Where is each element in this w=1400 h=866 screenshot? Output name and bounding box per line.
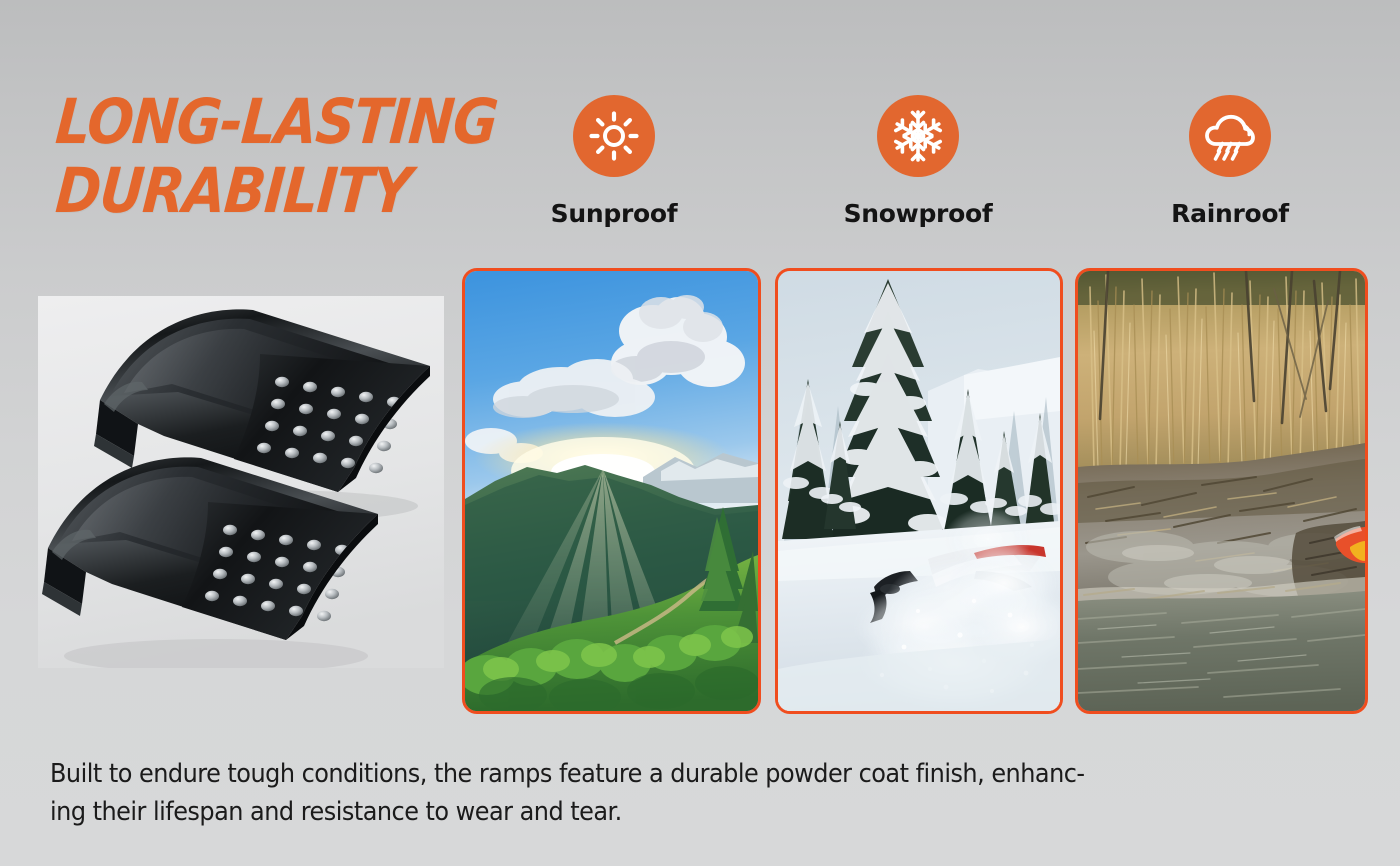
card-sun-photo xyxy=(462,268,761,714)
feature-rainroof: Rainroof xyxy=(1140,95,1320,228)
rainroof-badge xyxy=(1189,95,1271,177)
card-rain-photo xyxy=(1075,268,1368,714)
page-title: LONG-LASTING DURABILITY xyxy=(56,92,526,220)
headline-line-1: LONG-LASTING xyxy=(54,92,472,152)
sunproof-badge xyxy=(573,95,655,177)
feature-sunproof: Sunproof xyxy=(524,95,704,228)
feature-label-snowproof: Snowproof xyxy=(828,199,1008,228)
card-snow-photo xyxy=(775,268,1063,714)
feature-snowproof: Snowproof xyxy=(828,95,1008,228)
rain-cloud-icon xyxy=(1203,110,1257,162)
caption-line-2: ing their lifespan and resistance to wea… xyxy=(50,794,1065,832)
description-text: Built to endure tough conditions, the ra… xyxy=(50,756,1065,831)
snowproof-badge xyxy=(877,95,959,177)
caption-line-1: Built to endure tough conditions, the ra… xyxy=(50,756,1065,794)
feature-label-rainroof: Rainroof xyxy=(1140,199,1320,228)
headline-line-2: DURABILITY xyxy=(54,161,472,221)
feature-label-sunproof: Sunproof xyxy=(524,199,704,228)
sun-icon xyxy=(589,111,639,161)
durability-banner: LONG-LASTING DURABILITY xyxy=(0,0,1400,866)
snowflake-icon xyxy=(891,109,945,163)
vehicle-ramps-pair-image xyxy=(38,296,444,668)
